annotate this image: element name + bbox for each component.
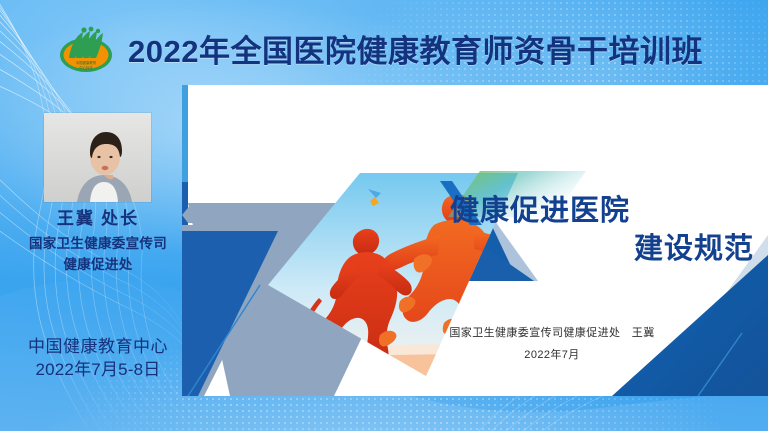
speaker-name: 王冀 处长 [14,208,182,229]
page-title: 2022年全国医院健康教育师资骨干培训班 [128,26,703,71]
speaker-org-line1: 国家卫生健康委宣传司 [14,234,182,254]
svg-text:中心标志: 中心标志 [79,65,93,70]
header-bar: 中国健康教育 中心标志 2022年全国医院健康教育师资骨干培训班 [0,0,768,88]
presentation-slide[interactable]: 健康促进医院 建设规范 国家卫生健康委宣传司健康促进处 王冀 2022年7月 [182,85,768,396]
slide-title-line2: 建设规范 [450,230,760,268]
speaker-webcam[interactable] [44,113,151,202]
slide-title-line1: 健康促进医院 [450,195,630,227]
health-education-center-logo-icon: 中国健康教育 中心标志 [57,24,115,76]
host-date: 2022年7月5-8日 [14,359,182,382]
slide-subtitle-line2: 2022年7月 [382,344,722,366]
speaker-info: 王冀 处长 国家卫生健康委宣传司 健康促进处 [14,208,182,275]
slide-subtitle: 国家卫生健康委宣传司健康促进处 王冀 2022年7月 [382,322,722,366]
slide-subtitle-line1: 国家卫生健康委宣传司健康促进处 王冀 [382,322,722,344]
host-info: 中国健康教育中心 2022年7月5-8日 [14,336,182,382]
broadcast-screen: 中国健康教育 中心标志 2022年全国医院健康教育师资骨干培训班 [0,0,768,431]
slide-title: 健康促进医院 建设规范 [450,192,760,269]
svg-text:中国健康教育: 中国健康教育 [76,60,97,65]
host-organizer: 中国健康教育中心 [14,336,182,359]
speaker-org-line2: 健康促进处 [14,255,182,275]
